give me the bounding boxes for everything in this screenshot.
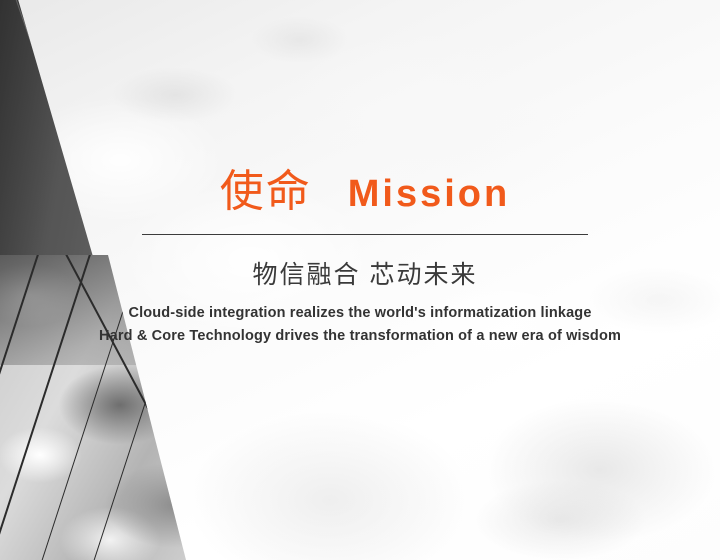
banner-subtitle: 物信融合 芯动未来 <box>142 260 588 290</box>
banner-content: 使命 Mission 物信融合 芯动未来 Cloud-side integrat… <box>0 0 720 560</box>
title-divider-rule <box>142 234 588 235</box>
body-line-1: Cloud-side integration realizes the worl… <box>60 302 660 325</box>
body-line-2: Hard & Core Technology drives the transf… <box>60 325 660 348</box>
banner-title: 使命 Mission <box>142 170 588 214</box>
mission-banner: 使命 Mission 物信融合 芯动未来 Cloud-side integrat… <box>0 0 720 560</box>
title-chinese: 使命 <box>220 170 312 214</box>
banner-body: Cloud-side integration realizes the worl… <box>60 302 660 348</box>
title-english: Mission <box>348 175 510 213</box>
